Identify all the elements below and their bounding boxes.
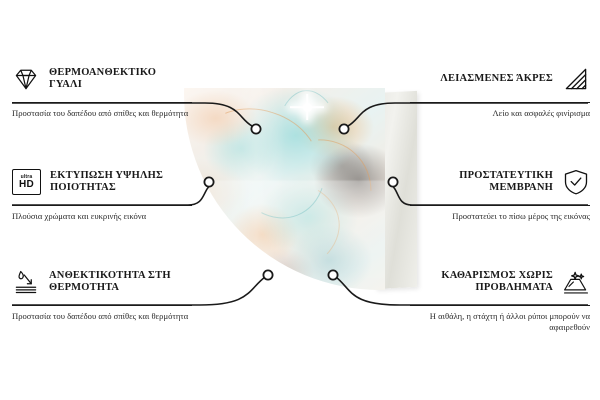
divider xyxy=(12,205,192,206)
divider xyxy=(410,205,590,206)
feature-description: Προστατεύει το πίσω μέρος της εικόνας xyxy=(410,211,590,222)
feature-header: ultra HD ΕΚΤΥΠΩΣΗ ΥΨΗΛΗΣ ΠΟΙΟΤΗΤΑΣ xyxy=(12,165,192,199)
product-image xyxy=(180,88,420,320)
feature-polished-edges: ΛΕΙΑΣΜΕΝΕΣ ΆΚΡΕΣ Λείο και ασφαλές φινίρι… xyxy=(410,62,590,119)
feature-title: ΚΑΘΑΡΙΣΜΟΣ ΧΩΡΙΣ ΠΡΟΒΛΗΜΑΤΑ xyxy=(410,270,553,295)
infographic-canvas: ΘΕΡΜΟΑΝΘΕΚΤΙΚΟ ΓΥΑΛΙ Προστασία του δαπέδ… xyxy=(0,0,600,400)
feature-protective-membrane: ΠΡΟΣΤΑΤΕΥΤΙΚΗ ΜΕΜΒΡΑΝΗ Προστατεύει το πί… xyxy=(410,165,590,222)
feature-description: Η αιθάλη, η στάχτη ή άλλοι ρύποι μπορούν… xyxy=(410,311,590,332)
easy-clean-icon xyxy=(562,268,590,296)
feature-description: Πλούσια χρώματα και ευκρινής εικόνα xyxy=(12,211,192,222)
polished-edges-icon xyxy=(562,65,590,93)
feature-title: ΘΕΡΜΟΑΝΘΕΚΤΙΚΟ ΓΥΑΛΙ xyxy=(49,67,192,92)
divider xyxy=(12,102,192,103)
divider xyxy=(410,305,590,306)
feature-title: ΠΡΟΣΤΑΤΕΥΤΙΚΗ ΜΕΜΒΡΑΝΗ xyxy=(410,170,553,195)
glass-highlight-band xyxy=(226,88,286,296)
feature-heat-durability: ΑΝΘΕΚΤΙΚΟΤΗΤΑ ΣΤΗ ΘΕΡΜΟΤΗΤΑ Προστασία το… xyxy=(12,265,192,322)
feature-title: ΛΕΙΑΣΜΕΝΕΣ ΆΚΡΕΣ xyxy=(440,73,553,86)
feature-heat-resistant-glass: ΘΕΡΜΟΑΝΘΕΚΤΙΚΟ ΓΥΑΛΙ Προστασία του δαπέδ… xyxy=(12,62,192,119)
diamond-icon xyxy=(12,65,40,93)
feature-description: Προστασία του δαπέδου από σπίθες και θερ… xyxy=(12,108,192,119)
feature-title: ΑΝΘΕΚΤΙΚΟΤΗΤΑ ΣΤΗ ΘΕΡΜΟΤΗΤΑ xyxy=(49,270,192,295)
feature-header: ΘΕΡΜΟΑΝΘΕΚΤΙΚΟ ΓΥΑΛΙ xyxy=(12,62,192,96)
shield-check-icon xyxy=(562,168,590,196)
divider xyxy=(410,102,590,103)
feature-header: ΠΡΟΣΤΑΤΕΥΤΙΚΗ ΜΕΜΒΡΑΝΗ xyxy=(410,165,590,199)
ultra-hd-bottom-label: HD xyxy=(19,180,34,190)
feature-description: Προστασία του δαπέδου από σπίθες και θερ… xyxy=(12,311,192,322)
feature-high-quality-print: ultra HD ΕΚΤΥΠΩΣΗ ΥΨΗΛΗΣ ΠΟΙΟΤΗΤΑΣ Πλούσ… xyxy=(12,165,192,222)
feature-description: Λείο και ασφαλές φινίρισμα xyxy=(410,108,590,119)
heat-resistance-icon xyxy=(12,268,40,296)
feature-header: ΛΕΙΑΣΜΕΝΕΣ ΆΚΡΕΣ xyxy=(410,62,590,96)
feature-header: ΚΑΘΑΡΙΣΜΟΣ ΧΩΡΙΣ ΠΡΟΒΛΗΜΑΤΑ xyxy=(410,265,590,299)
ultra-hd-badge-icon: ultra HD xyxy=(12,169,41,195)
feature-header: ΑΝΘΕΚΤΙΚΟΤΗΤΑ ΣΤΗ ΘΕΡΜΟΤΗΤΑ xyxy=(12,265,192,299)
divider xyxy=(12,305,192,306)
feature-easy-cleaning: ΚΑΘΑΡΙΣΜΟΣ ΧΩΡΙΣ ΠΡΟΒΛΗΜΑΤΑ Η αιθάλη, η … xyxy=(410,265,590,332)
feature-title: ΕΚΤΥΠΩΣΗ ΥΨΗΛΗΣ ΠΟΙΟΤΗΤΑΣ xyxy=(50,170,192,195)
